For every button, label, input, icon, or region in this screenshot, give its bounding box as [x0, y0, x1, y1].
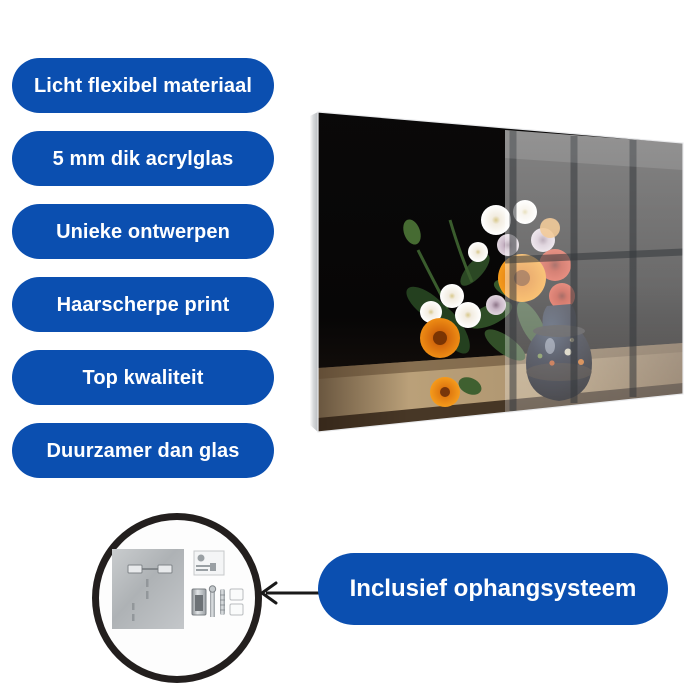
- instruction-label: [194, 551, 224, 575]
- callout-label: Inclusief ophangsysteem: [350, 577, 637, 601]
- acrylic-panel: [300, 100, 700, 450]
- acrylic-edge-thickness: [310, 112, 318, 432]
- feature-pill-1[interactable]: Licht flexibel materiaal: [12, 58, 274, 113]
- mounting-hardware-circle: [92, 513, 262, 683]
- feature-pill-label: Top kwaliteit: [83, 368, 204, 388]
- mounting-plate: [112, 549, 184, 629]
- feature-pill-label: 5 mm dik acrylglas: [53, 149, 234, 169]
- printed-artwork: [300, 100, 700, 450]
- mounting-hardware-photo: [110, 541, 246, 653]
- feature-pill-4[interactable]: Haarscherpe print: [12, 277, 274, 332]
- feature-pill-label: Unieke ontwerpen: [56, 222, 230, 242]
- product-feature-graphic: Licht flexibel materiaal 5 mm dik acrylg…: [0, 0, 700, 700]
- screw: [209, 586, 215, 617]
- feature-pill-2[interactable]: 5 mm dik acrylglas: [12, 131, 274, 186]
- feature-pill-label: Duurzamer dan glas: [47, 441, 240, 461]
- callout-pill-hanging-system[interactable]: Inclusief ophangsysteem: [318, 553, 668, 625]
- spacer-pad: [230, 589, 243, 600]
- feature-pill-5[interactable]: Top kwaliteit: [12, 350, 274, 405]
- feature-pill-label: Haarscherpe print: [57, 295, 230, 315]
- feature-pill-3[interactable]: Unieke ontwerpen: [12, 204, 274, 259]
- acrylic-panel-illustration: [300, 100, 700, 450]
- spacer-pad: [230, 604, 243, 615]
- window-reflection: [505, 130, 683, 412]
- feature-pill-6[interactable]: Duurzamer dan glas: [12, 423, 274, 478]
- wall-plug: [220, 589, 225, 615]
- feature-pill-label: Licht flexibel materiaal: [34, 76, 252, 96]
